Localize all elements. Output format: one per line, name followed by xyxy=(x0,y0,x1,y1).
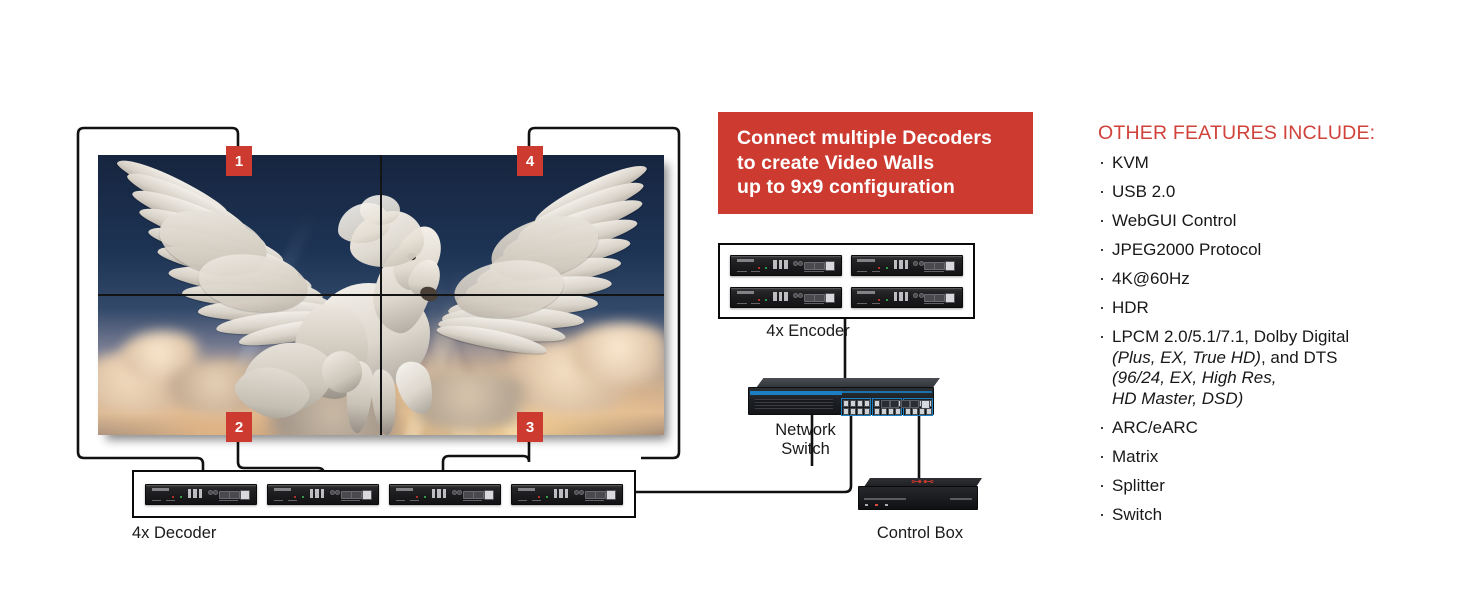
callout-text: Connect multiple Decoders to create Vide… xyxy=(718,126,992,200)
encoder-group-box[interactable] xyxy=(718,243,975,319)
decoder-unit[interactable] xyxy=(511,484,623,505)
encoder-unit[interactable] xyxy=(851,255,963,276)
features-panel: OTHER FEATURES INCLUDE: KVM USB 2.0 WebG… xyxy=(1098,122,1428,534)
video-wall-callout: Connect multiple Decoders to create Vide… xyxy=(718,112,1033,214)
switch-management-port[interactable] xyxy=(921,400,930,409)
switch-sfp-port[interactable] xyxy=(890,400,899,408)
diagram-canvas: 1 4 2 3 xyxy=(0,0,1464,600)
switch-sfp-port[interactable] xyxy=(881,400,890,408)
switch-vent xyxy=(755,399,833,410)
features-heading: OTHER FEATURES INCLUDE: xyxy=(1098,122,1428,144)
switch-sfp-port[interactable] xyxy=(910,400,919,408)
screen-badge-4[interactable]: 4 xyxy=(517,146,543,176)
network-switch[interactable] xyxy=(748,378,940,420)
switch-sfp-port[interactable] xyxy=(901,400,910,408)
control-box-front-panel xyxy=(858,486,978,510)
screen-badge-1[interactable]: 1 xyxy=(226,146,252,176)
feature-item: HDR xyxy=(1098,298,1428,319)
features-list: KVM USB 2.0 WebGUI Control JPEG2000 Prot… xyxy=(1098,153,1428,525)
encoder-unit[interactable] xyxy=(730,255,842,276)
feature-item: 4K@60Hz xyxy=(1098,269,1428,290)
feature-item: Matrix xyxy=(1098,447,1428,468)
feature-item: Splitter xyxy=(1098,476,1428,497)
decoder-label: 4x Decoder xyxy=(132,524,237,543)
feature-item: ARC/eARC xyxy=(1098,418,1428,439)
feature-item: USB 2.0 xyxy=(1098,182,1428,203)
network-switch-label: Network Switch xyxy=(748,421,863,459)
feature-item: JPEG2000 Protocol xyxy=(1098,240,1428,261)
encoder-label: 4x Encoder xyxy=(718,322,898,341)
switch-front-panel xyxy=(748,387,934,415)
wall-bezel-horizontal xyxy=(98,294,664,296)
video-wall[interactable] xyxy=(98,155,664,435)
control-box-label: Control Box xyxy=(858,524,982,543)
screen-badge-2[interactable]: 2 xyxy=(226,412,252,442)
feature-item: WebGUI Control xyxy=(1098,211,1428,232)
decoder-group-box[interactable] xyxy=(132,470,636,518)
feature-item: Switch xyxy=(1098,505,1428,526)
encoder-unit[interactable] xyxy=(851,287,963,308)
screen-badge-3[interactable]: 3 xyxy=(517,412,543,442)
decoder-unit[interactable] xyxy=(267,484,379,505)
encoder-unit[interactable] xyxy=(730,287,842,308)
decoder-unit[interactable] xyxy=(145,484,257,505)
decoder-unit[interactable] xyxy=(389,484,501,505)
feature-item-audio: LPCM 2.0/5.1/7.1, Dolby Digital (Plus, E… xyxy=(1098,327,1428,409)
control-box[interactable]: ⊶⊷ xyxy=(858,478,982,512)
feature-item: KVM xyxy=(1098,153,1428,174)
